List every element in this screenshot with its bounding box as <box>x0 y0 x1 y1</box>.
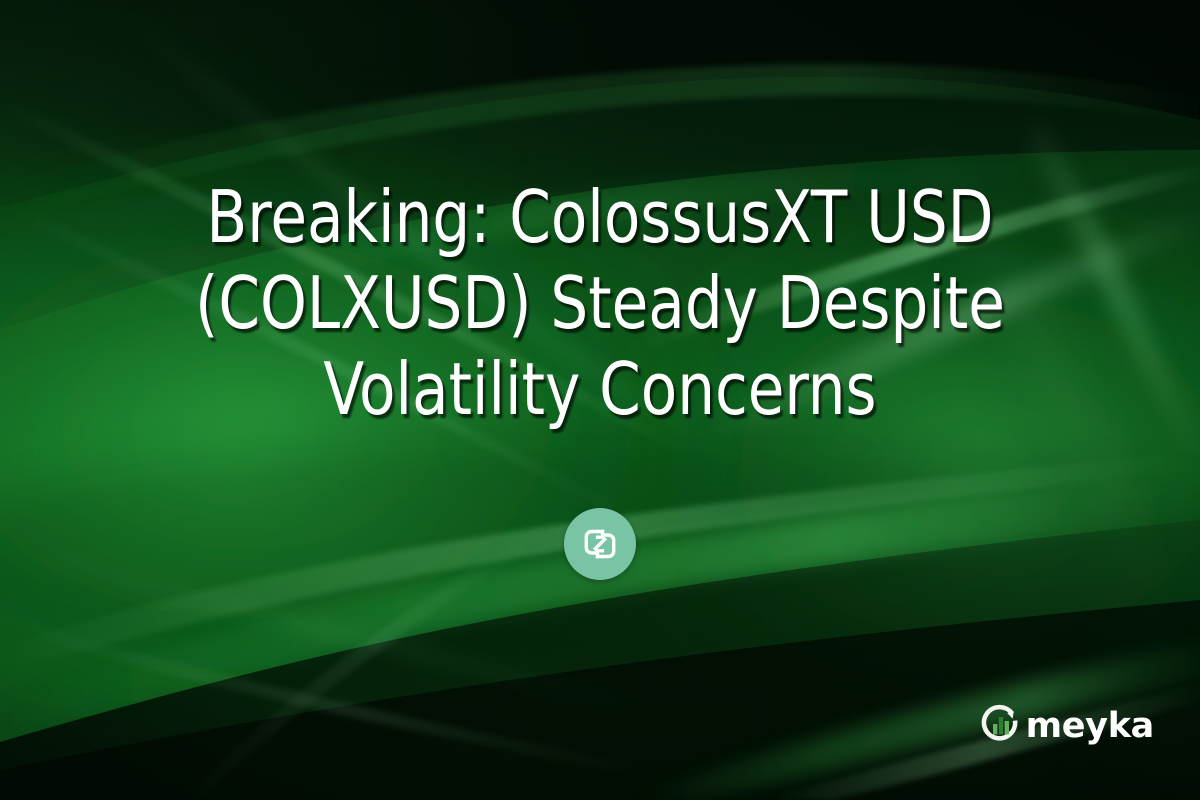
colossusxt-coin-badge <box>564 508 636 580</box>
headline-line-2: (COLXUSD) Steady Despite <box>90 260 1109 346</box>
news-banner: Breaking: ColossusXT USD (COLXUSD) Stead… <box>0 0 1200 800</box>
meyka-brand-name: meyka <box>1026 709 1154 744</box>
headline-line-1: Breaking: ColossusXT USD <box>90 174 1109 260</box>
meyka-chart-ring-icon <box>978 701 1024 752</box>
colossusxt-logo-icon <box>578 522 622 566</box>
meyka-brand-logo: meyka <box>978 701 1154 752</box>
headline: Breaking: ColossusXT USD (COLXUSD) Stead… <box>0 174 1200 432</box>
headline-line-3: Volatility Concerns <box>90 346 1109 432</box>
